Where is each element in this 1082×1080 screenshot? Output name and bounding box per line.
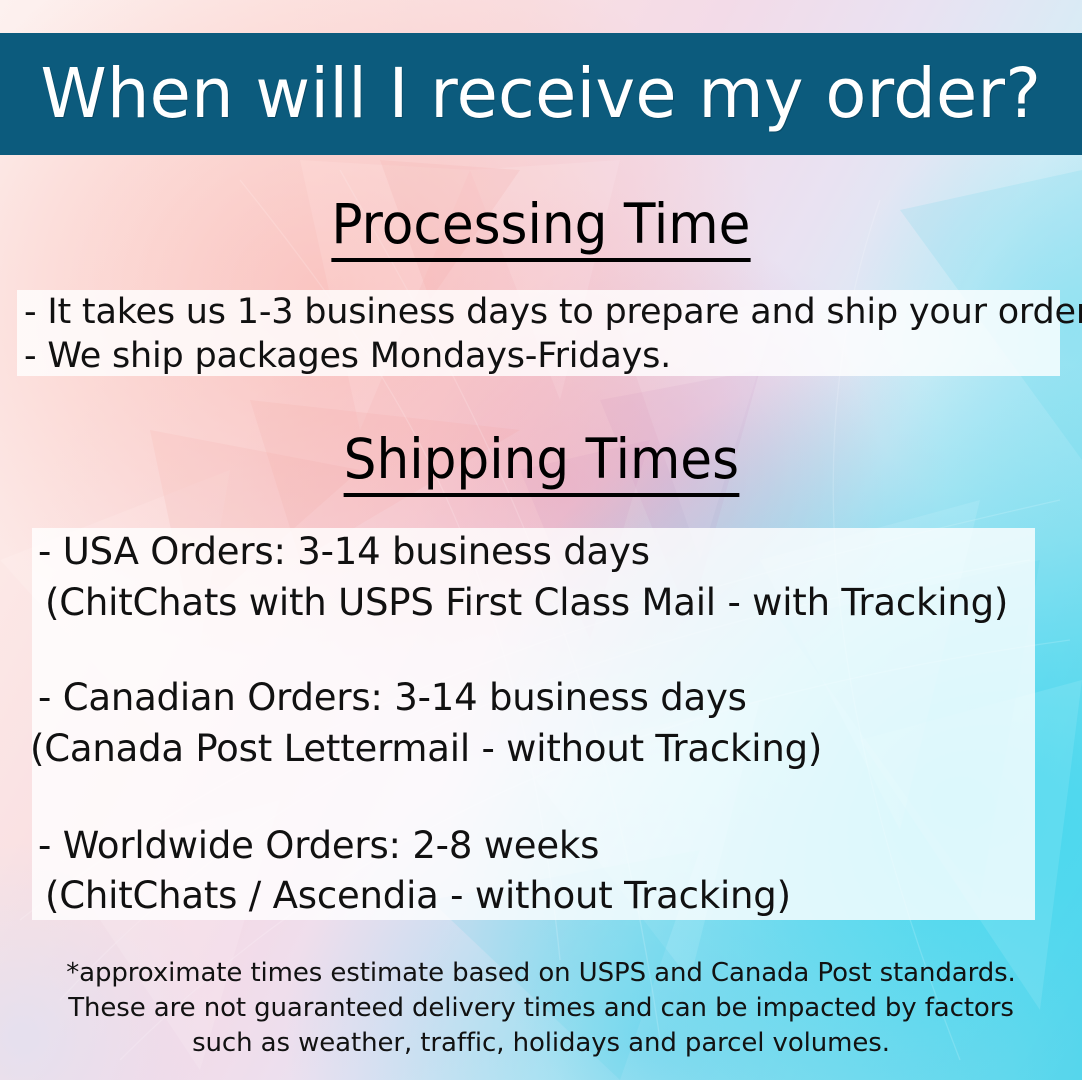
processing-line-1: - It takes us 1-3 business days to prepa… (24, 292, 1082, 332)
shipping-entry-canada-line-1: - Canadian Orders: 3-14 business days (38, 676, 747, 719)
shipping-entry-usa-line-1: - USA Orders: 3-14 business days (38, 530, 650, 573)
processing-line-2: - We ship packages Mondays-Fridays. (24, 336, 671, 376)
footer-disclaimer: *approximate times estimate based on USP… (0, 956, 1082, 1061)
section-heading-shipping-times: Shipping Times (0, 427, 1082, 497)
section-heading-processing-time-label: Processing Time (331, 192, 750, 262)
footer-disclaimer-line-2: These are not guaranteed delivery times … (0, 991, 1082, 1026)
footer-disclaimer-line-3: such as weather, traffic, holidays and p… (0, 1026, 1082, 1061)
section-heading-processing-time: Processing Time (0, 192, 1082, 262)
shipping-entry-usa-line-2: (ChitChats with USPS First Class Mail - … (45, 581, 1008, 624)
footer-disclaimer-line-1: *approximate times estimate based on USP… (0, 956, 1082, 991)
section-heading-shipping-times-label: Shipping Times (343, 427, 738, 497)
shipping-entry-canada-line-2: (Canada Post Lettermail - without Tracki… (30, 727, 822, 770)
shipping-entry-worldwide-line-1: - Worldwide Orders: 2-8 weeks (38, 824, 599, 867)
content-area: Processing Time - It takes us 1-3 busine… (0, 0, 1082, 1080)
shipping-entry-worldwide-line-2: (ChitChats / Ascendia - without Tracking… (45, 874, 791, 917)
infographic-canvas: When will I receive my order? Processing… (0, 0, 1082, 1080)
